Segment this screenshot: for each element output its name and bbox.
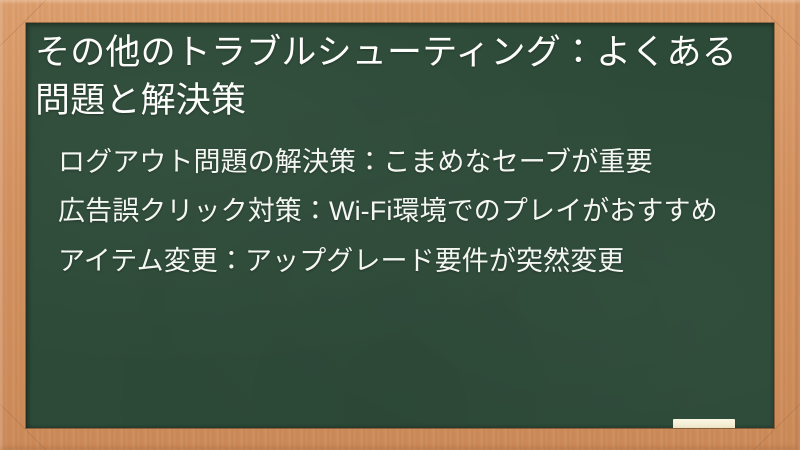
slide-bullet-list: ログアウト問題の解決策：こまめなセーブが重要 広告誤クリック対策：Wi-Fi環境… — [35, 144, 760, 281]
list-item: アイテム変更：アップグレード要件が突然変更 — [58, 243, 756, 281]
blackboard: その他のトラブルシューティング：よくある問題と解決策 ログアウト問題の解決策：こ… — [26, 23, 774, 428]
blackboard-content: その他のトラブルシューティング：よくある問題と解決策 ログアウト問題の解決策：こ… — [26, 23, 774, 281]
slide-canvas: その他のトラブルシューティング：よくある問題と解決策 ログアウト問題の解決策：こ… — [0, 0, 800, 450]
chalk-stick — [673, 419, 735, 428]
list-item: ログアウト問題の解決策：こまめなセーブが重要 — [58, 144, 756, 182]
list-item: 広告誤クリック対策：Wi-Fi環境でのプレイがおすすめ — [58, 193, 756, 231]
slide-title: その他のトラブルシューティング：よくある問題と解決策 — [35, 29, 760, 126]
